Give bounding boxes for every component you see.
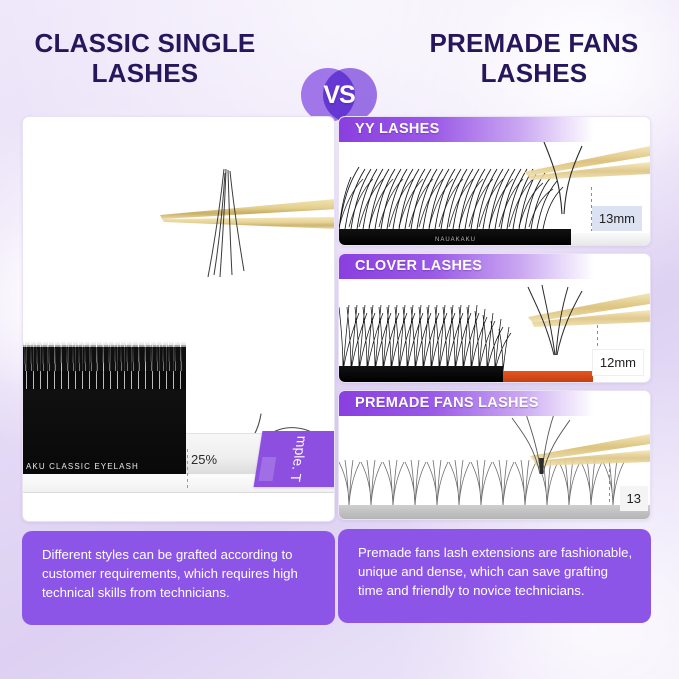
vs-badge: VS <box>301 68 377 122</box>
left-caption: Different styles can be grafted accordin… <box>22 531 335 625</box>
clover-length-badge: 12mm <box>592 349 644 376</box>
right-column: YY LASHES NAUAKAKU <box>338 116 651 623</box>
premade-length-badge: 13 <box>620 486 648 511</box>
sample-tag: mple. T <box>254 431 335 487</box>
clover-fan-strand-illustration <box>524 283 588 357</box>
panel-clover-title: CLOVER LASHES <box>339 254 650 279</box>
yy-tray-band <box>571 233 650 245</box>
yy-band-micro-text: NAUAKAKU <box>435 237 476 243</box>
panel-yy-body: NAUAKAKU 13mm <box>339 142 650 245</box>
premade-base-band <box>339 505 650 519</box>
page-title-left: CLASSIC SINGLE LASHES <box>14 28 276 88</box>
yy-length-badge: 13mm <box>592 206 642 231</box>
sample-tag-notch <box>259 457 277 481</box>
vs-label: VS <box>301 68 377 122</box>
panel-premade-fans-lashes: PREMADE FANS LASHES <box>338 390 651 520</box>
right-caption: Premade fans lash extensions are fashion… <box>338 529 651 623</box>
panel-yy-title: YY LASHES <box>339 117 650 142</box>
clover-lash-rows-illustration <box>339 299 515 371</box>
panel-premade-title: PREMADE FANS LASHES <box>339 391 650 416</box>
panel-clover-lashes: CLOVER LASHES <box>338 253 651 383</box>
lash-strip-teeth-overlay <box>23 341 186 371</box>
clover-orange-band <box>503 371 593 382</box>
yy-fan-strand-illustration <box>534 142 590 216</box>
left-column: 25% AKU CLASSIC EYELASH mple. T Differen… <box>22 116 335 625</box>
single-lash-strands-illustration <box>194 167 256 279</box>
clover-lash-band <box>339 366 503 382</box>
percent-label: 25% <box>191 452 217 467</box>
premade-measure-dashline <box>609 463 610 505</box>
premade-fan-strand-illustration <box>510 416 572 476</box>
page-title-right: PREMADE FANS LASHES <box>403 28 665 88</box>
measure-tick <box>187 449 188 491</box>
header: CLASSIC SINGLE LASHES VS PREMADE FANS LA… <box>0 28 679 110</box>
product-strip-label: AKU CLASSIC EYELASH <box>26 462 139 471</box>
classic-lash-strip: AKU CLASSIC EYELASH <box>23 347 186 474</box>
panel-yy-lashes: YY LASHES NAUAKAKU <box>338 116 651 246</box>
infographic-canvas: CLASSIC SINGLE LASHES VS PREMADE FANS LA… <box>0 0 679 679</box>
panel-clover-body: 12mm <box>339 279 650 382</box>
sample-tag-text: mple. T <box>287 436 310 482</box>
classic-lashes-card: 25% AKU CLASSIC EYELASH mple. T <box>22 116 335 522</box>
panel-premade-body: 13 <box>339 416 650 519</box>
